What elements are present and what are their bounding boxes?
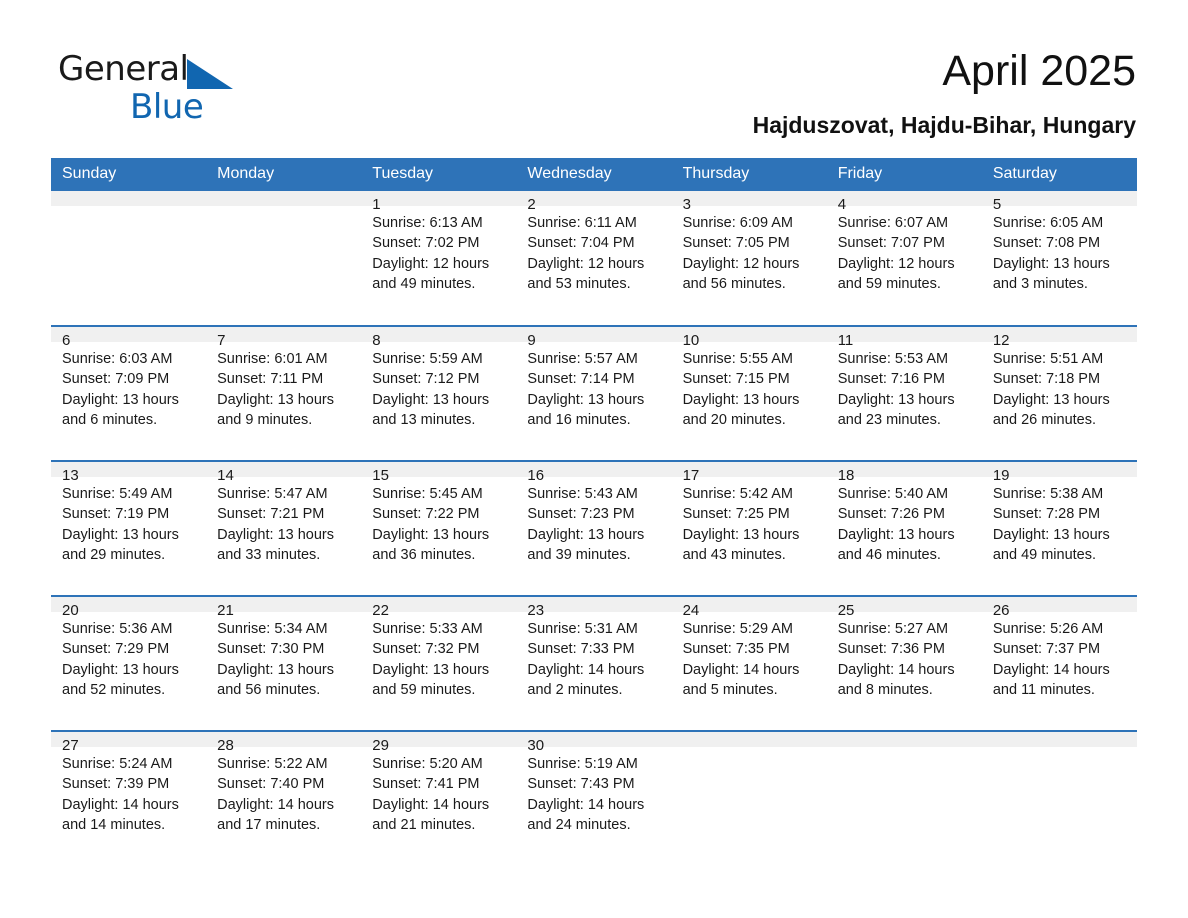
day-number: 16 — [516, 462, 671, 477]
day-details: Sunrise: 5:24 AMSunset: 7:39 PMDaylight:… — [51, 747, 206, 835]
sunrise-text: Sunrise: 5:26 AM — [993, 619, 1129, 639]
daylight-text-line2: and 39 minutes. — [527, 545, 663, 565]
page-title: April 2025 — [942, 47, 1136, 96]
calendar-day-cell[interactable]: 5Sunrise: 6:05 AMSunset: 7:08 PMDaylight… — [982, 191, 1137, 326]
calendar-day-cell[interactable]: 23Sunrise: 5:31 AMSunset: 7:33 PMDayligh… — [516, 596, 671, 731]
daylight-text-line1: Daylight: 13 hours — [838, 525, 974, 545]
sunset-text: Sunset: 7:36 PM — [838, 639, 974, 659]
day-details — [672, 747, 827, 754]
daylight-text-line1: Daylight: 13 hours — [993, 390, 1129, 410]
daylight-text-line2: and 5 minutes. — [683, 680, 819, 700]
daylight-text-line2: and 43 minutes. — [683, 545, 819, 565]
daylight-text-line1: Daylight: 13 hours — [372, 390, 508, 410]
sunset-text: Sunset: 7:19 PM — [62, 504, 198, 524]
sunrise-text: Sunrise: 5:55 AM — [683, 349, 819, 369]
sunset-text: Sunset: 7:40 PM — [217, 774, 353, 794]
weekday-header-friday: Friday — [827, 158, 982, 191]
day-details: Sunrise: 5:29 AMSunset: 7:35 PMDaylight:… — [672, 612, 827, 700]
sunset-text: Sunset: 7:12 PM — [372, 369, 508, 389]
calendar-day-cell[interactable]: 26Sunrise: 5:26 AMSunset: 7:37 PMDayligh… — [982, 596, 1137, 731]
day-details: Sunrise: 5:59 AMSunset: 7:12 PMDaylight:… — [361, 342, 516, 430]
sunrise-text: Sunrise: 5:51 AM — [993, 349, 1129, 369]
general-blue-logo[interactable]: General Blue — [58, 52, 358, 136]
daylight-text-line1: Daylight: 13 hours — [993, 254, 1129, 274]
day-number: 10 — [672, 327, 827, 342]
daylight-text-line1: Daylight: 13 hours — [683, 390, 819, 410]
sunset-text: Sunset: 7:26 PM — [838, 504, 974, 524]
daylight-text-line1: Daylight: 14 hours — [838, 660, 974, 680]
daylight-text-line1: Daylight: 13 hours — [527, 390, 663, 410]
day-number: 28 — [206, 732, 361, 747]
sunrise-text: Sunrise: 6:03 AM — [62, 349, 198, 369]
day-number: 9 — [516, 327, 671, 342]
day-number: 21 — [206, 597, 361, 612]
sunrise-text: Sunrise: 6:09 AM — [683, 213, 819, 233]
daylight-text-line1: Daylight: 13 hours — [372, 660, 508, 680]
calendar-week-row: 20Sunrise: 5:36 AMSunset: 7:29 PMDayligh… — [51, 596, 1137, 731]
weekday-header-thursday: Thursday — [672, 158, 827, 191]
day-number: 15 — [361, 462, 516, 477]
sunset-text: Sunset: 7:15 PM — [683, 369, 819, 389]
calendar-day-cell-empty — [51, 191, 206, 326]
sunset-text: Sunset: 7:22 PM — [372, 504, 508, 524]
day-number: 7 — [206, 327, 361, 342]
sunrise-text: Sunrise: 5:31 AM — [527, 619, 663, 639]
calendar-day-cell[interactable]: 1Sunrise: 6:13 AMSunset: 7:02 PMDaylight… — [361, 191, 516, 326]
daylight-text-line1: Daylight: 14 hours — [993, 660, 1129, 680]
sunset-text: Sunset: 7:23 PM — [527, 504, 663, 524]
daylight-text-line2: and 20 minutes. — [683, 410, 819, 430]
sunset-text: Sunset: 7:04 PM — [527, 233, 663, 253]
daylight-text-line1: Daylight: 13 hours — [217, 525, 353, 545]
day-number — [827, 732, 982, 747]
daylight-text-line2: and 24 minutes. — [527, 815, 663, 835]
day-number: 18 — [827, 462, 982, 477]
day-number: 1 — [361, 191, 516, 206]
calendar-day-cell[interactable]: 9Sunrise: 5:57 AMSunset: 7:14 PMDaylight… — [516, 326, 671, 461]
day-details: Sunrise: 5:43 AMSunset: 7:23 PMDaylight:… — [516, 477, 671, 565]
day-details: Sunrise: 5:38 AMSunset: 7:28 PMDaylight:… — [982, 477, 1137, 565]
sunrise-text: Sunrise: 5:43 AM — [527, 484, 663, 504]
daylight-text-line2: and 8 minutes. — [838, 680, 974, 700]
sunrise-text: Sunrise: 5:27 AM — [838, 619, 974, 639]
sunrise-sunset-calendar: SundayMondayTuesdayWednesdayThursdayFrid… — [51, 158, 1137, 866]
day-number: 8 — [361, 327, 516, 342]
daylight-text-line2: and 23 minutes. — [838, 410, 974, 430]
daylight-text-line2: and 17 minutes. — [217, 815, 353, 835]
daylight-text-line1: Daylight: 12 hours — [838, 254, 974, 274]
daylight-text-line2: and 14 minutes. — [62, 815, 198, 835]
page-header: General Blue April 2025 Hajduszovat, Haj… — [0, 0, 1188, 150]
daylight-text-line2: and 26 minutes. — [993, 410, 1129, 430]
day-number: 3 — [672, 191, 827, 206]
weekday-header-saturday: Saturday — [982, 158, 1137, 191]
sunset-text: Sunset: 7:18 PM — [993, 369, 1129, 389]
calendar-day-cell[interactable]: 16Sunrise: 5:43 AMSunset: 7:23 PMDayligh… — [516, 461, 671, 596]
sunset-text: Sunset: 7:29 PM — [62, 639, 198, 659]
day-number: 26 — [982, 597, 1137, 612]
day-number: 12 — [982, 327, 1137, 342]
calendar-day-cell-empty — [206, 191, 361, 326]
day-details: Sunrise: 6:11 AMSunset: 7:04 PMDaylight:… — [516, 206, 671, 294]
day-details: Sunrise: 6:05 AMSunset: 7:08 PMDaylight:… — [982, 206, 1137, 294]
calendar-day-cell[interactable]: 15Sunrise: 5:45 AMSunset: 7:22 PMDayligh… — [361, 461, 516, 596]
day-details: Sunrise: 5:42 AMSunset: 7:25 PMDaylight:… — [672, 477, 827, 565]
daylight-text-line1: Daylight: 14 hours — [527, 660, 663, 680]
daylight-text-line2: and 33 minutes. — [217, 545, 353, 565]
calendar-day-cell-empty — [982, 731, 1137, 866]
sunset-text: Sunset: 7:33 PM — [527, 639, 663, 659]
day-details: Sunrise: 6:01 AMSunset: 7:11 PMDaylight:… — [206, 342, 361, 430]
day-details: Sunrise: 6:07 AMSunset: 7:07 PMDaylight:… — [827, 206, 982, 294]
sunset-text: Sunset: 7:21 PM — [217, 504, 353, 524]
sunset-text: Sunset: 7:02 PM — [372, 233, 508, 253]
day-number — [982, 732, 1137, 747]
calendar-day-cell[interactable]: 19Sunrise: 5:38 AMSunset: 7:28 PMDayligh… — [982, 461, 1137, 596]
calendar-day-cell[interactable]: 28Sunrise: 5:22 AMSunset: 7:40 PMDayligh… — [206, 731, 361, 866]
sunrise-text: Sunrise: 5:38 AM — [993, 484, 1129, 504]
sunset-text: Sunset: 7:09 PM — [62, 369, 198, 389]
day-details: Sunrise: 5:55 AMSunset: 7:15 PMDaylight:… — [672, 342, 827, 430]
calendar-day-cell[interactable]: 10Sunrise: 5:55 AMSunset: 7:15 PMDayligh… — [672, 326, 827, 461]
calendar-body: 1Sunrise: 6:13 AMSunset: 7:02 PMDaylight… — [51, 191, 1137, 866]
sunset-text: Sunset: 7:28 PM — [993, 504, 1129, 524]
day-number: 6 — [51, 327, 206, 342]
sunrise-text: Sunrise: 5:47 AM — [217, 484, 353, 504]
daylight-text-line1: Daylight: 14 hours — [372, 795, 508, 815]
calendar-day-cell[interactable]: 25Sunrise: 5:27 AMSunset: 7:36 PMDayligh… — [827, 596, 982, 731]
daylight-text-line2: and 52 minutes. — [62, 680, 198, 700]
daylight-text-line1: Daylight: 12 hours — [372, 254, 508, 274]
weekday-header-wednesday: Wednesday — [516, 158, 671, 191]
calendar-day-cell[interactable]: 17Sunrise: 5:42 AMSunset: 7:25 PMDayligh… — [672, 461, 827, 596]
sunset-text: Sunset: 7:43 PM — [527, 774, 663, 794]
calendar-day-cell[interactable]: 11Sunrise: 5:53 AMSunset: 7:16 PMDayligh… — [827, 326, 982, 461]
day-number: 13 — [51, 462, 206, 477]
calendar-day-cell[interactable]: 18Sunrise: 5:40 AMSunset: 7:26 PMDayligh… — [827, 461, 982, 596]
daylight-text-line2: and 3 minutes. — [993, 274, 1129, 294]
daylight-text-line2: and 11 minutes. — [993, 680, 1129, 700]
daylight-text-line2: and 46 minutes. — [838, 545, 974, 565]
day-details: Sunrise: 5:31 AMSunset: 7:33 PMDaylight:… — [516, 612, 671, 700]
daylight-text-line1: Daylight: 14 hours — [527, 795, 663, 815]
sunrise-text: Sunrise: 5:40 AM — [838, 484, 974, 504]
day-number: 14 — [206, 462, 361, 477]
page-subtitle-location: Hajduszovat, Hajdu-Bihar, Hungary — [753, 112, 1136, 139]
daylight-text-line1: Daylight: 14 hours — [683, 660, 819, 680]
day-details: Sunrise: 5:34 AMSunset: 7:30 PMDaylight:… — [206, 612, 361, 700]
day-number: 11 — [827, 327, 982, 342]
day-number: 27 — [51, 732, 206, 747]
daylight-text-line1: Daylight: 13 hours — [372, 525, 508, 545]
sunrise-text: Sunrise: 5:33 AM — [372, 619, 508, 639]
sunrise-text: Sunrise: 5:34 AM — [217, 619, 353, 639]
calendar-day-cell[interactable]: 7Sunrise: 6:01 AMSunset: 7:11 PMDaylight… — [206, 326, 361, 461]
calendar-day-cell[interactable]: 24Sunrise: 5:29 AMSunset: 7:35 PMDayligh… — [672, 596, 827, 731]
day-number: 5 — [982, 191, 1137, 206]
day-details: Sunrise: 5:36 AMSunset: 7:29 PMDaylight:… — [51, 612, 206, 700]
daylight-text-line2: and 29 minutes. — [62, 545, 198, 565]
sunrise-text: Sunrise: 5:22 AM — [217, 754, 353, 774]
day-details: Sunrise: 6:09 AMSunset: 7:05 PMDaylight:… — [672, 206, 827, 294]
calendar-week-row: 6Sunrise: 6:03 AMSunset: 7:09 PMDaylight… — [51, 326, 1137, 461]
sunset-text: Sunset: 7:41 PM — [372, 774, 508, 794]
day-details: Sunrise: 5:51 AMSunset: 7:18 PMDaylight:… — [982, 342, 1137, 430]
daylight-text-line2: and 49 minutes. — [993, 545, 1129, 565]
calendar-week-row: 1Sunrise: 6:13 AMSunset: 7:02 PMDaylight… — [51, 191, 1137, 326]
sunrise-text: Sunrise: 5:42 AM — [683, 484, 819, 504]
day-number — [672, 732, 827, 747]
sunrise-text: Sunrise: 5:57 AM — [527, 349, 663, 369]
day-number: 20 — [51, 597, 206, 612]
day-details: Sunrise: 5:19 AMSunset: 7:43 PMDaylight:… — [516, 747, 671, 835]
daylight-text-line1: Daylight: 14 hours — [217, 795, 353, 815]
daylight-text-line1: Daylight: 13 hours — [62, 660, 198, 680]
daylight-text-line1: Daylight: 13 hours — [527, 525, 663, 545]
day-details — [51, 206, 206, 213]
calendar-day-cell[interactable]: 29Sunrise: 5:20 AMSunset: 7:41 PMDayligh… — [361, 731, 516, 866]
sunrise-text: Sunrise: 6:13 AM — [372, 213, 508, 233]
day-details: Sunrise: 5:33 AMSunset: 7:32 PMDaylight:… — [361, 612, 516, 700]
daylight-text-line2: and 6 minutes. — [62, 410, 198, 430]
sunset-text: Sunset: 7:30 PM — [217, 639, 353, 659]
calendar-page: General Blue April 2025 Hajduszovat, Haj… — [0, 0, 1188, 918]
day-details: Sunrise: 5:45 AMSunset: 7:22 PMDaylight:… — [361, 477, 516, 565]
sunrise-text: Sunrise: 6:05 AM — [993, 213, 1129, 233]
sunset-text: Sunset: 7:07 PM — [838, 233, 974, 253]
calendar-header-row: SundayMondayTuesdayWednesdayThursdayFrid… — [51, 158, 1137, 191]
daylight-text-line2: and 36 minutes. — [372, 545, 508, 565]
daylight-text-line2: and 13 minutes. — [372, 410, 508, 430]
calendar-day-cell[interactable]: 21Sunrise: 5:34 AMSunset: 7:30 PMDayligh… — [206, 596, 361, 731]
weekday-header-sunday: Sunday — [51, 158, 206, 191]
day-number: 17 — [672, 462, 827, 477]
day-number: 23 — [516, 597, 671, 612]
calendar-day-cell-empty — [672, 731, 827, 866]
day-details — [206, 206, 361, 213]
sunrise-text: Sunrise: 6:07 AM — [838, 213, 974, 233]
calendar-week-row: 13Sunrise: 5:49 AMSunset: 7:19 PMDayligh… — [51, 461, 1137, 596]
day-details — [982, 747, 1137, 754]
weekday-header-row: SundayMondayTuesdayWednesdayThursdayFrid… — [51, 158, 1137, 191]
daylight-text-line2: and 53 minutes. — [527, 274, 663, 294]
daylight-text-line2: and 9 minutes. — [217, 410, 353, 430]
day-number: 30 — [516, 732, 671, 747]
calendar-day-cell[interactable]: 2Sunrise: 6:11 AMSunset: 7:04 PMDaylight… — [516, 191, 671, 326]
daylight-text-line2: and 21 minutes. — [372, 815, 508, 835]
day-number — [51, 191, 206, 206]
sunset-text: Sunset: 7:25 PM — [683, 504, 819, 524]
day-details: Sunrise: 5:26 AMSunset: 7:37 PMDaylight:… — [982, 612, 1137, 700]
daylight-text-line1: Daylight: 13 hours — [683, 525, 819, 545]
sunrise-text: Sunrise: 6:01 AM — [217, 349, 353, 369]
logo-word-general: General — [58, 49, 189, 89]
day-details: Sunrise: 5:20 AMSunset: 7:41 PMDaylight:… — [361, 747, 516, 835]
sunrise-text: Sunrise: 5:24 AM — [62, 754, 198, 774]
calendar-day-cell[interactable]: 3Sunrise: 6:09 AMSunset: 7:05 PMDaylight… — [672, 191, 827, 326]
day-details: Sunrise: 5:27 AMSunset: 7:36 PMDaylight:… — [827, 612, 982, 700]
sunset-text: Sunset: 7:05 PM — [683, 233, 819, 253]
daylight-text-line1: Daylight: 13 hours — [217, 390, 353, 410]
calendar-day-cell[interactable]: 13Sunrise: 5:49 AMSunset: 7:19 PMDayligh… — [51, 461, 206, 596]
daylight-text-line2: and 2 minutes. — [527, 680, 663, 700]
day-details: Sunrise: 6:03 AMSunset: 7:09 PMDaylight:… — [51, 342, 206, 430]
sunset-text: Sunset: 7:39 PM — [62, 774, 198, 794]
day-number: 29 — [361, 732, 516, 747]
sunrise-text: Sunrise: 5:45 AM — [372, 484, 508, 504]
sunrise-text: Sunrise: 5:49 AM — [62, 484, 198, 504]
calendar-day-cell[interactable]: 6Sunrise: 6:03 AMSunset: 7:09 PMDaylight… — [51, 326, 206, 461]
day-details: Sunrise: 5:53 AMSunset: 7:16 PMDaylight:… — [827, 342, 982, 430]
daylight-text-line2: and 16 minutes. — [527, 410, 663, 430]
daylight-text-line2: and 49 minutes. — [372, 274, 508, 294]
sunrise-text: Sunrise: 5:20 AM — [372, 754, 508, 774]
daylight-text-line1: Daylight: 13 hours — [993, 525, 1129, 545]
logo-top-row: General — [58, 52, 358, 92]
day-details: Sunrise: 5:49 AMSunset: 7:19 PMDaylight:… — [51, 477, 206, 565]
day-details: Sunrise: 5:40 AMSunset: 7:26 PMDaylight:… — [827, 477, 982, 565]
sunrise-text: Sunrise: 5:53 AM — [838, 349, 974, 369]
calendar-day-cell[interactable]: 20Sunrise: 5:36 AMSunset: 7:29 PMDayligh… — [51, 596, 206, 731]
day-details: Sunrise: 5:22 AMSunset: 7:40 PMDaylight:… — [206, 747, 361, 835]
sunset-text: Sunset: 7:14 PM — [527, 369, 663, 389]
calendar-day-cell[interactable]: 22Sunrise: 5:33 AMSunset: 7:32 PMDayligh… — [361, 596, 516, 731]
calendar-day-cell-empty — [827, 731, 982, 866]
daylight-text-line1: Daylight: 12 hours — [527, 254, 663, 274]
sunrise-text: Sunrise: 6:11 AM — [527, 213, 663, 233]
sunset-text: Sunset: 7:37 PM — [993, 639, 1129, 659]
day-number: 25 — [827, 597, 982, 612]
calendar-day-cell[interactable]: 30Sunrise: 5:19 AMSunset: 7:43 PMDayligh… — [516, 731, 671, 866]
calendar-day-cell[interactable]: 12Sunrise: 5:51 AMSunset: 7:18 PMDayligh… — [982, 326, 1137, 461]
daylight-text-line1: Daylight: 13 hours — [62, 390, 198, 410]
day-details: Sunrise: 6:13 AMSunset: 7:02 PMDaylight:… — [361, 206, 516, 294]
sunrise-text: Sunrise: 5:36 AM — [62, 619, 198, 639]
daylight-text-line1: Daylight: 13 hours — [217, 660, 353, 680]
weekday-header-tuesday: Tuesday — [361, 158, 516, 191]
day-number: 24 — [672, 597, 827, 612]
calendar-day-cell[interactable]: 14Sunrise: 5:47 AMSunset: 7:21 PMDayligh… — [206, 461, 361, 596]
daylight-text-line2: and 59 minutes. — [838, 274, 974, 294]
day-number — [206, 191, 361, 206]
day-details — [827, 747, 982, 754]
day-number: 4 — [827, 191, 982, 206]
sunrise-text: Sunrise: 5:59 AM — [372, 349, 508, 369]
daylight-text-line2: and 56 minutes. — [217, 680, 353, 700]
sunset-text: Sunset: 7:16 PM — [838, 369, 974, 389]
daylight-text-line1: Daylight: 13 hours — [838, 390, 974, 410]
logo-triangle-icon — [187, 59, 233, 93]
sunset-text: Sunset: 7:32 PM — [372, 639, 508, 659]
daylight-text-line1: Daylight: 13 hours — [62, 525, 198, 545]
logo-word-blue: Blue — [130, 90, 358, 124]
day-details: Sunrise: 5:57 AMSunset: 7:14 PMDaylight:… — [516, 342, 671, 430]
day-number: 2 — [516, 191, 671, 206]
day-number: 19 — [982, 462, 1137, 477]
sunrise-text: Sunrise: 5:29 AM — [683, 619, 819, 639]
calendar-week-row: 27Sunrise: 5:24 AMSunset: 7:39 PMDayligh… — [51, 731, 1137, 866]
sunrise-text: Sunrise: 5:19 AM — [527, 754, 663, 774]
sunset-text: Sunset: 7:11 PM — [217, 369, 353, 389]
sunset-text: Sunset: 7:35 PM — [683, 639, 819, 659]
weekday-header-monday: Monday — [206, 158, 361, 191]
daylight-text-line1: Daylight: 14 hours — [62, 795, 198, 815]
calendar-day-cell[interactable]: 4Sunrise: 6:07 AMSunset: 7:07 PMDaylight… — [827, 191, 982, 326]
day-number: 22 — [361, 597, 516, 612]
calendar-day-cell[interactable]: 27Sunrise: 5:24 AMSunset: 7:39 PMDayligh… — [51, 731, 206, 866]
daylight-text-line1: Daylight: 12 hours — [683, 254, 819, 274]
calendar-day-cell[interactable]: 8Sunrise: 5:59 AMSunset: 7:12 PMDaylight… — [361, 326, 516, 461]
sunset-text: Sunset: 7:08 PM — [993, 233, 1129, 253]
daylight-text-line2: and 56 minutes. — [683, 274, 819, 294]
day-details: Sunrise: 5:47 AMSunset: 7:21 PMDaylight:… — [206, 477, 361, 565]
daylight-text-line2: and 59 minutes. — [372, 680, 508, 700]
